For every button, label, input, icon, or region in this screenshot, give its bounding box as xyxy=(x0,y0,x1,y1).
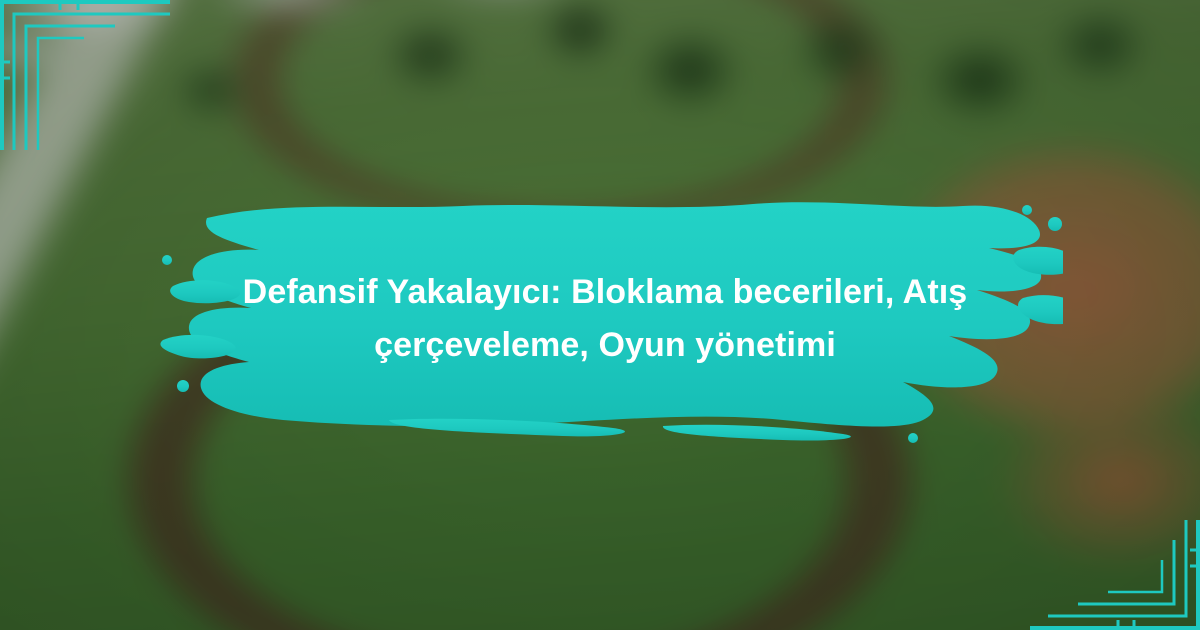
headline-container: Defansif Yakalayıcı: Bloklama becerileri… xyxy=(180,206,1030,432)
headline-text: Defansif Yakalayıcı: Bloklama becerileri… xyxy=(235,266,975,371)
share-card: Defansif Yakalayıcı: Bloklama becerileri… xyxy=(0,0,1200,630)
